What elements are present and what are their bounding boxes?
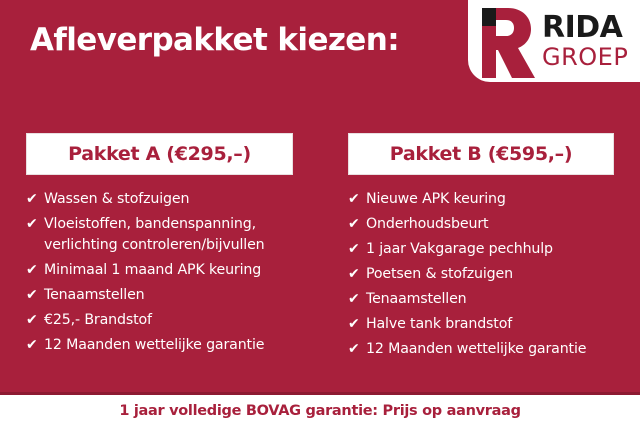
list-item: ✔ Onderhoudsbeurt bbox=[348, 214, 614, 235]
feature-label: Vloeistoffen, bandenspanning, verlichtin… bbox=[44, 214, 293, 256]
package-a-title: Pakket A (€295,–) bbox=[68, 143, 251, 165]
check-icon: ✔ bbox=[26, 189, 44, 210]
package-columns: Pakket A (€295,–) ✔ Wassen & stofzuigen … bbox=[0, 133, 640, 364]
logo-wordmark: RIDA GROEP bbox=[542, 13, 628, 69]
list-item: ✔ Tenaamstellen bbox=[26, 285, 293, 306]
feature-label: Tenaamstellen bbox=[366, 289, 467, 310]
package-b-feature-list: ✔ Nieuwe APK keuring ✔ Onderhoudsbeurt ✔… bbox=[348, 189, 614, 360]
package-card-b: Pakket B (€595,–) ✔ Nieuwe APK keuring ✔… bbox=[320, 133, 640, 364]
check-icon: ✔ bbox=[26, 214, 44, 235]
feature-label: 1 jaar Vakgarage pechhulp bbox=[366, 239, 553, 260]
list-item: ✔ 12 Maanden wettelijke garantie bbox=[348, 339, 614, 360]
check-icon: ✔ bbox=[26, 260, 44, 281]
list-item: ✔ Wassen & stofzuigen bbox=[26, 189, 293, 210]
list-item: ✔ Vloeistoffen, bandenspanning, verlicht… bbox=[26, 214, 293, 256]
feature-label: Tenaamstellen bbox=[44, 285, 145, 306]
logo-name: RIDA bbox=[542, 13, 628, 43]
check-icon: ✔ bbox=[348, 339, 366, 360]
afleverpakket-promo-banner: RIDA GROEP Afleverpakket kiezen: Pakket … bbox=[0, 0, 640, 426]
feature-label: Wassen & stofzuigen bbox=[44, 189, 189, 210]
check-icon: ✔ bbox=[348, 314, 366, 335]
check-icon: ✔ bbox=[26, 335, 44, 356]
package-a-header: Pakket A (€295,–) bbox=[26, 133, 293, 175]
check-icon: ✔ bbox=[348, 214, 366, 235]
feature-label: 12 Maanden wettelijke garantie bbox=[44, 335, 264, 356]
r-monogram-icon bbox=[478, 6, 536, 80]
feature-label: 12 Maanden wettelijke garantie bbox=[366, 339, 586, 360]
check-icon: ✔ bbox=[348, 289, 366, 310]
package-b-title: Pakket B (€595,–) bbox=[390, 143, 573, 165]
footer-bar: 1 jaar volledige BOVAG garantie: Prijs o… bbox=[0, 395, 640, 426]
list-item: ✔ Tenaamstellen bbox=[348, 289, 614, 310]
feature-label: Minimaal 1 maand APK keuring bbox=[44, 260, 261, 281]
logo-subtitle: GROEP bbox=[542, 45, 628, 69]
footer-text: 1 jaar volledige BOVAG garantie: Prijs o… bbox=[119, 403, 520, 419]
feature-label: Nieuwe APK keuring bbox=[366, 189, 506, 210]
feature-label: Halve tank brandstof bbox=[366, 314, 512, 335]
list-item: ✔ 1 jaar Vakgarage pechhulp bbox=[348, 239, 614, 260]
check-icon: ✔ bbox=[348, 189, 366, 210]
check-icon: ✔ bbox=[26, 285, 44, 306]
page-title: Afleverpakket kiezen: bbox=[30, 22, 399, 58]
feature-label: Onderhoudsbeurt bbox=[366, 214, 488, 235]
package-card-a: Pakket A (€295,–) ✔ Wassen & stofzuigen … bbox=[0, 133, 320, 364]
feature-label: Poetsen & stofzuigen bbox=[366, 264, 513, 285]
rida-groep-logo: RIDA GROEP bbox=[468, 0, 640, 82]
check-icon: ✔ bbox=[348, 239, 366, 260]
list-item: ✔ €25,- Brandstof bbox=[26, 310, 293, 331]
package-b-header: Pakket B (€595,–) bbox=[348, 133, 614, 175]
package-a-feature-list: ✔ Wassen & stofzuigen ✔ Vloeistoffen, ba… bbox=[26, 189, 293, 356]
list-item: ✔ Poetsen & stofzuigen bbox=[348, 264, 614, 285]
feature-label: €25,- Brandstof bbox=[44, 310, 152, 331]
list-item: ✔ Minimaal 1 maand APK keuring bbox=[26, 260, 293, 281]
list-item: ✔ Nieuwe APK keuring bbox=[348, 189, 614, 210]
check-icon: ✔ bbox=[348, 264, 366, 285]
list-item: ✔ Halve tank brandstof bbox=[348, 314, 614, 335]
check-icon: ✔ bbox=[26, 310, 44, 331]
list-item: ✔ 12 Maanden wettelijke garantie bbox=[26, 335, 293, 356]
